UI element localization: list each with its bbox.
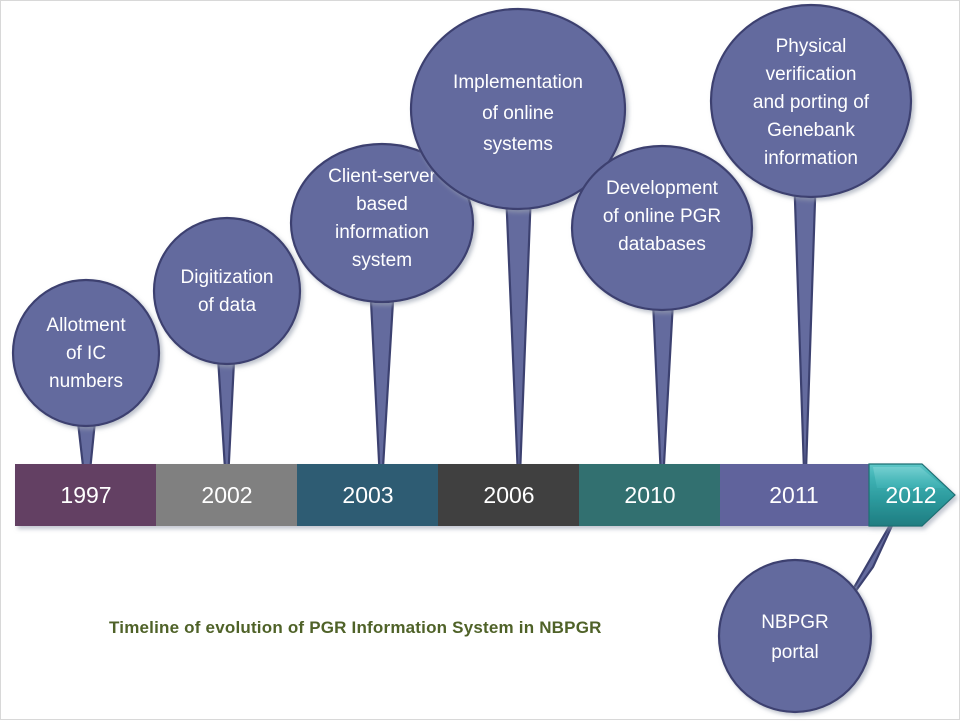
callout-line-2011-4: Genebank <box>767 120 855 141</box>
callout-2002[interactable]: Digitization of data <box>154 218 300 364</box>
callout-line-2010-3: databases <box>618 234 706 255</box>
year-label-2012: 2012 <box>885 482 936 508</box>
callout-line-2003-4: system <box>352 250 412 271</box>
callout-line-1997-1: Allotment <box>46 315 126 336</box>
figure-caption: Timeline of evolution of PGR Information… <box>109 618 602 637</box>
callout-line-2003-2: based <box>356 194 408 215</box>
callout-line-2012-1: NBPGR <box>761 612 829 633</box>
callout-line-2006-2: of online <box>482 103 554 124</box>
callout-line-2010-1: Development <box>606 178 719 199</box>
callout-line-1997-3: numbers <box>49 371 123 392</box>
callout-line-2011-1: Physical <box>776 36 847 57</box>
callout-2012[interactable]: NBPGR portal <box>719 560 871 712</box>
timeline-figure: 1997 2002 2003 2006 2010 2011 2012 Allot… <box>1 1 960 721</box>
timeline-canvas: 1997 2002 2003 2006 2010 2011 2012 Allot… <box>1 1 960 721</box>
callout-line-2010-2: of online PGR <box>603 206 721 227</box>
callout-line-2006-1: Implementation <box>453 72 583 93</box>
callout-line-2002-1: Digitization <box>181 267 274 288</box>
year-label-2003: 2003 <box>342 482 393 508</box>
callout-2010[interactable]: Development of online PGR databases <box>572 146 752 310</box>
year-label-2002: 2002 <box>201 482 252 508</box>
callout-line-2011-3: and porting of <box>753 92 870 113</box>
callout-1997[interactable]: Allotment of IC numbers <box>13 280 159 426</box>
year-label-1997: 1997 <box>60 482 111 508</box>
year-label-2010: 2010 <box>624 482 675 508</box>
callout-line-2011-5: information <box>764 148 858 169</box>
callout-line-2002-2: of data <box>198 295 257 316</box>
callout-2011[interactable]: Physical verification and porting of Gen… <box>711 5 911 197</box>
callout-line-2011-2: verification <box>766 64 857 85</box>
tail-2006 <box>506 191 531 501</box>
callout-bubble-2010[interactable] <box>572 146 752 310</box>
tail-2011 <box>794 171 816 501</box>
callout-line-2003-3: information <box>335 222 429 243</box>
callout-bubble-2002[interactable] <box>154 218 300 364</box>
year-label-2011: 2011 <box>769 482 818 508</box>
year-label-2006: 2006 <box>483 482 534 508</box>
callout-line-2006-3: systems <box>483 134 553 155</box>
callout-bubble-2012[interactable] <box>719 560 871 712</box>
callout-line-2003-1: Client-server <box>328 166 436 187</box>
callout-line-1997-2: of IC <box>66 343 106 364</box>
callout-line-2012-2: portal <box>771 642 819 663</box>
